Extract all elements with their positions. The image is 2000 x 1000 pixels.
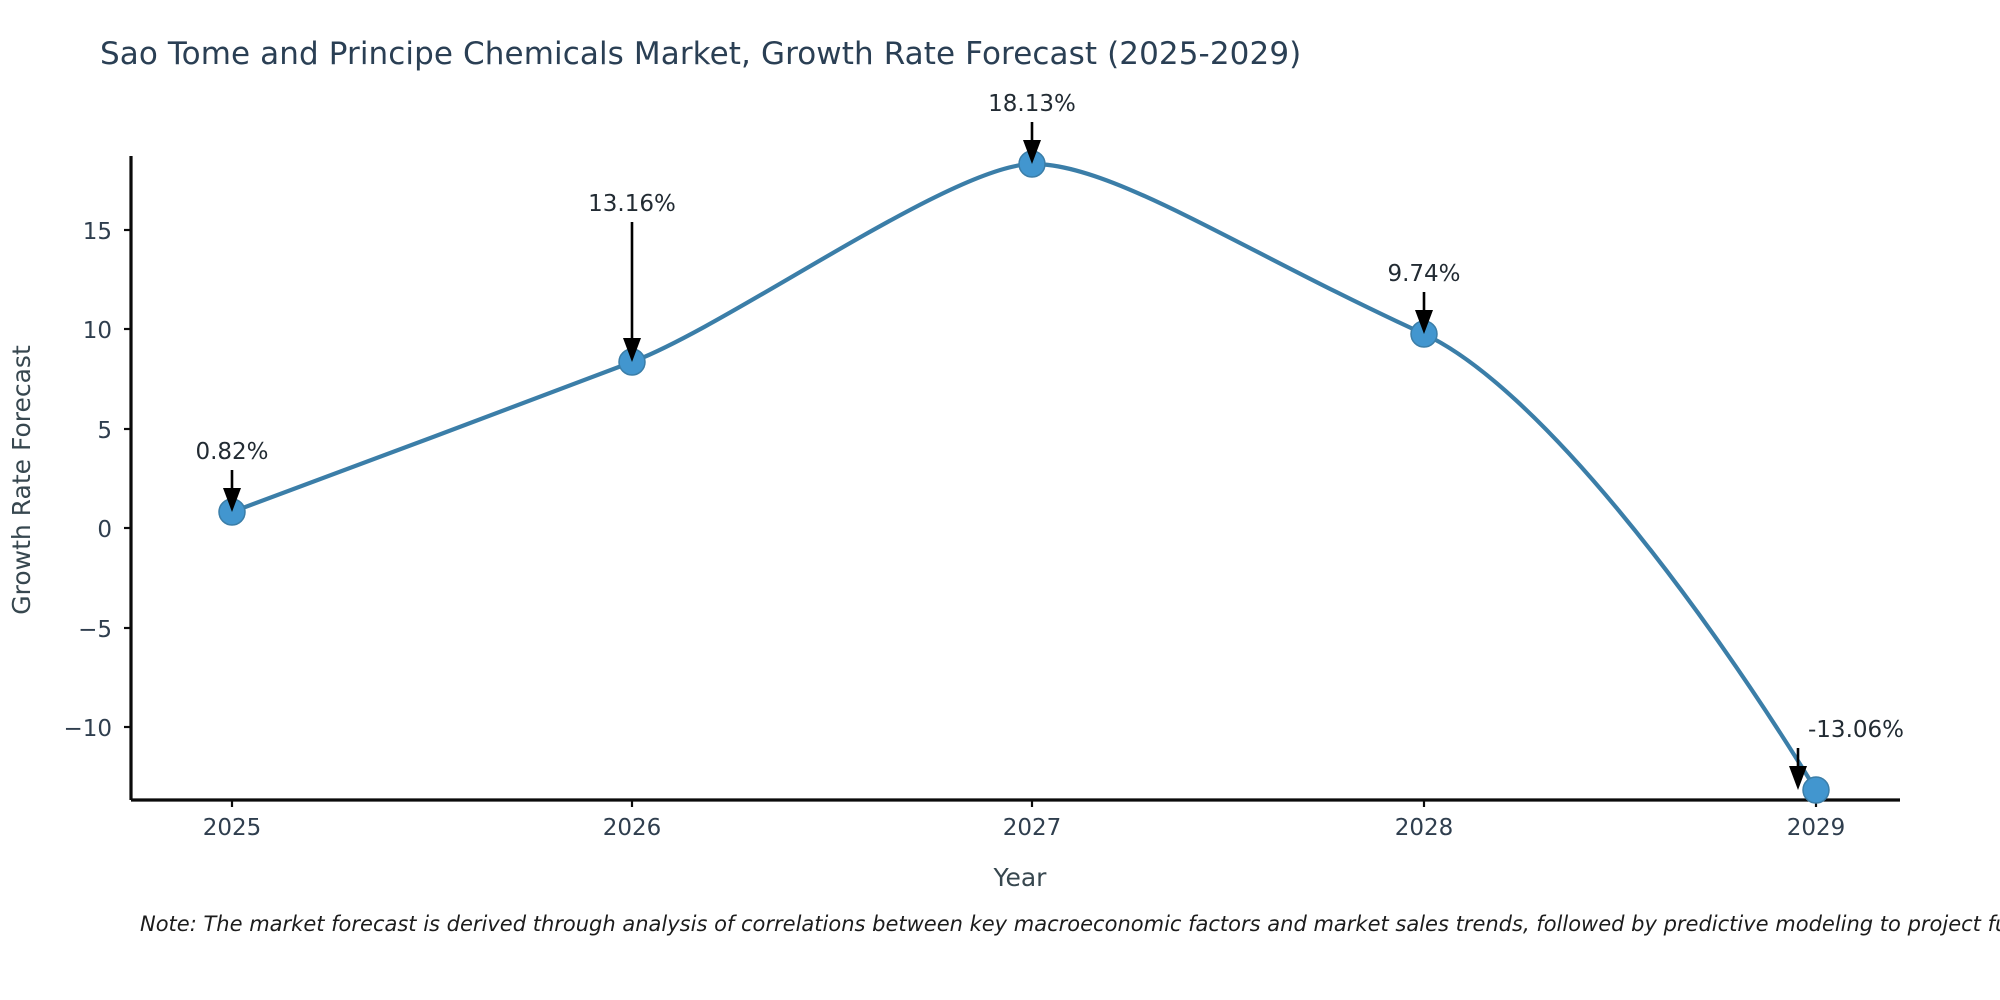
- data-point-label: -13.06%: [1808, 717, 1904, 743]
- x-tick-label: 2028: [1395, 815, 1454, 841]
- data-point-marker[interactable]: [1803, 777, 1829, 803]
- chart-note: Note: The market forecast is derived thr…: [140, 912, 2000, 936]
- x-tick-label: 2026: [603, 815, 662, 841]
- y-tick-label: 10: [83, 318, 112, 344]
- y-tick-label: −5: [78, 617, 112, 643]
- x-axis-title: Year: [993, 863, 1048, 892]
- x-tick-labels: 2025 2026 2027 2028 2029: [203, 815, 1846, 841]
- y-tick-label: 15: [83, 219, 112, 245]
- x-tick-label: 2029: [1787, 815, 1846, 841]
- y-tick-label: 0: [97, 517, 112, 543]
- data-point-label: 13.16%: [588, 191, 676, 217]
- data-point-label: 9.74%: [1387, 261, 1460, 287]
- x-tick-label: 2027: [1003, 815, 1062, 841]
- y-tick-label: −10: [63, 716, 112, 742]
- annotation-arrow-icon: [623, 222, 641, 362]
- forecast-line: [232, 164, 1816, 790]
- data-point-labels: 0.82% 13.16% 18.13% 9.74% -13.06%: [195, 91, 1904, 743]
- data-point-label: 0.82%: [195, 439, 268, 465]
- chart-figure: Sao Tome and Principe Chemicals Market, …: [0, 0, 2000, 1000]
- x-tick-label: 2025: [203, 815, 262, 841]
- y-axis-title: Growth Rate Forecast: [7, 345, 36, 615]
- line-chart-plot: 15 10 5 0 −5 −10 2025 2026 2027 2028 202…: [0, 0, 2000, 1000]
- data-point-label: 18.13%: [988, 91, 1076, 117]
- y-tick-labels: 15 10 5 0 −5 −10: [63, 219, 112, 742]
- y-tick-label: 5: [97, 418, 112, 444]
